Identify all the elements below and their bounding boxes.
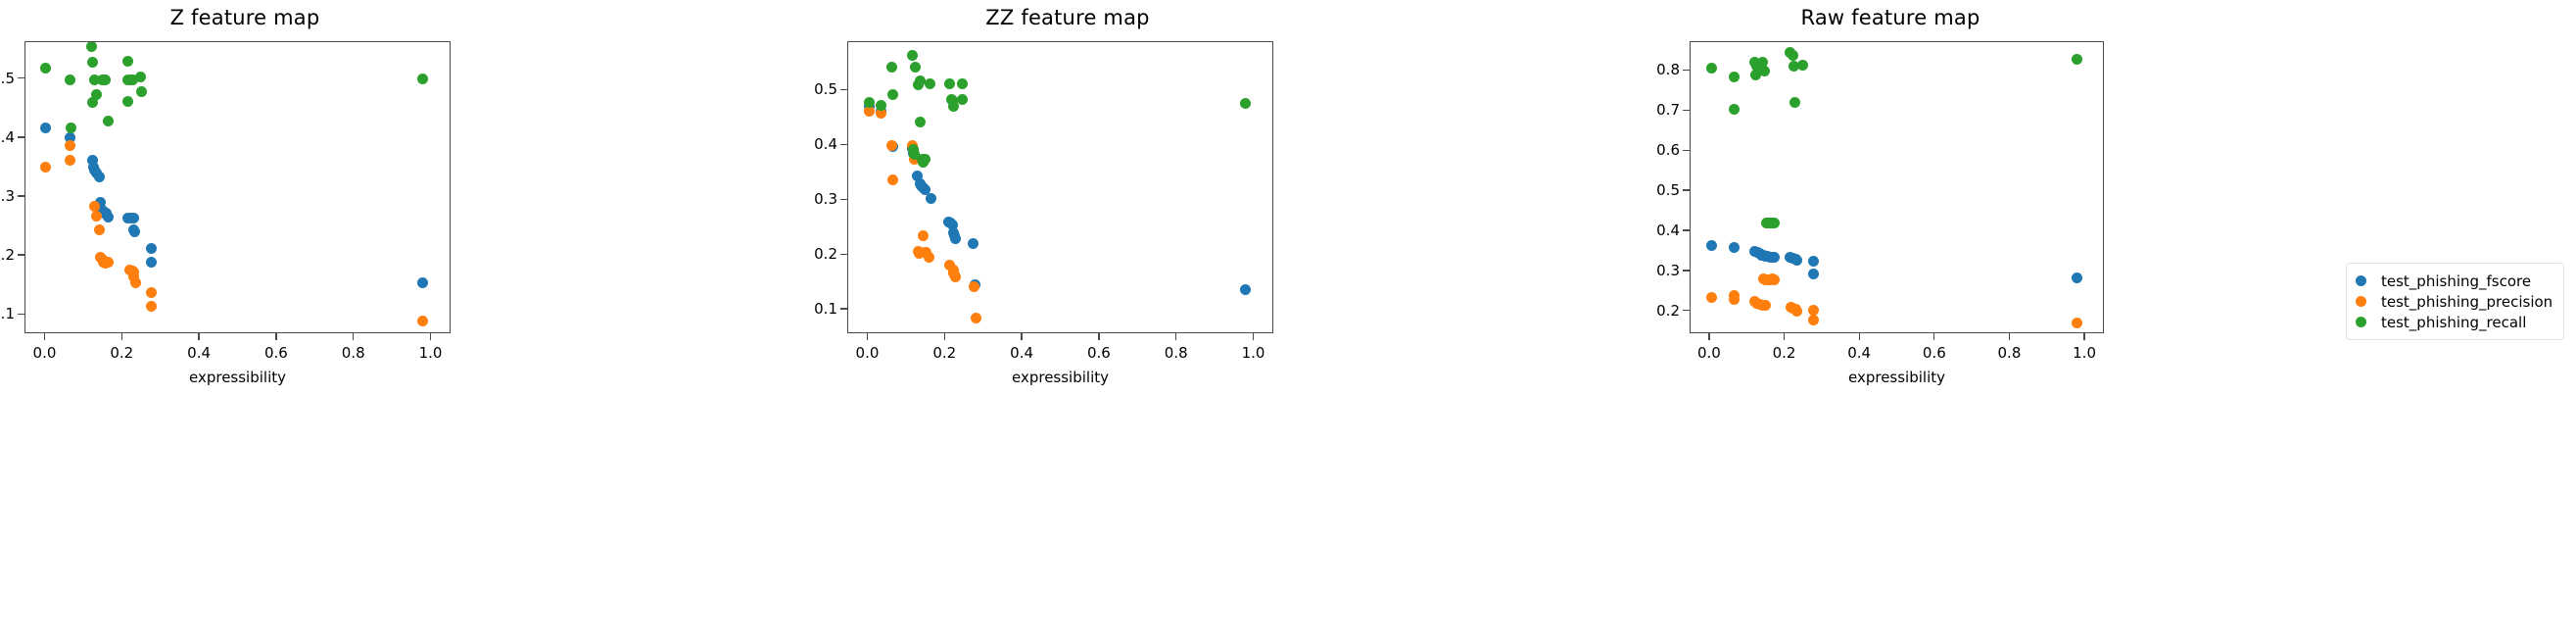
y-tick-mark xyxy=(1683,270,1690,271)
x-tick-mark xyxy=(121,333,122,340)
data-point xyxy=(40,63,51,74)
data-point xyxy=(944,78,955,89)
y-tick-label: 0.7 xyxy=(1639,101,1680,119)
x-tick-label: 0.8 xyxy=(1998,344,2022,362)
data-point xyxy=(969,281,979,292)
data-point xyxy=(135,72,146,82)
data-point xyxy=(65,140,75,151)
data-point xyxy=(876,100,886,111)
data-point xyxy=(100,74,111,85)
x-tick-mark xyxy=(1021,333,1022,340)
data-point xyxy=(950,272,961,282)
data-point xyxy=(915,117,926,127)
x-tick-label: 0.4 xyxy=(1010,344,1033,362)
y-tick-mark xyxy=(1683,189,1690,190)
data-point xyxy=(146,243,157,254)
y-tick-label: 0.4 xyxy=(1639,222,1680,239)
data-point xyxy=(40,123,51,133)
data-point xyxy=(40,162,51,173)
x-tick-label: 0.8 xyxy=(1165,344,1188,362)
y-tick-label: 0.4 xyxy=(796,135,837,153)
x-tick-mark xyxy=(944,333,945,340)
data-point xyxy=(957,78,968,89)
data-point xyxy=(94,172,105,182)
data-point xyxy=(2072,272,2082,283)
y-tick-label: 0.6 xyxy=(1639,141,1680,159)
legend-marker-icon xyxy=(2356,317,2366,327)
data-point xyxy=(129,226,140,237)
data-point xyxy=(1729,104,1740,115)
subplot-title: Z feature map xyxy=(0,6,490,29)
data-point xyxy=(66,123,76,133)
y-tick-mark xyxy=(1683,70,1690,71)
x-tick-mark xyxy=(867,333,868,340)
data-point xyxy=(925,78,935,89)
data-point xyxy=(887,89,898,100)
x-tick-label: 0.0 xyxy=(1697,344,1721,362)
data-point xyxy=(1706,63,1717,74)
data-point xyxy=(1769,274,1780,285)
x-axis-label: expressibility xyxy=(1848,369,1945,386)
data-point xyxy=(1759,66,1770,76)
x-tick-mark xyxy=(1098,333,1099,340)
plot-area xyxy=(847,41,1273,333)
x-tick-mark xyxy=(353,333,354,340)
data-point xyxy=(1797,60,1808,71)
data-point xyxy=(910,62,921,73)
data-point xyxy=(1729,72,1740,82)
plot-area xyxy=(24,41,451,333)
data-point xyxy=(417,74,428,84)
subplot-title: Raw feature map xyxy=(1646,6,2135,29)
subplot-2: ZZ feature map0.10.20.30.40.50.00.20.40.… xyxy=(823,0,1312,643)
x-tick-mark xyxy=(1933,333,1934,340)
data-point xyxy=(1788,50,1798,61)
x-axis-label: expressibility xyxy=(1012,369,1109,386)
data-point xyxy=(417,277,428,288)
x-tick-mark xyxy=(430,333,431,340)
legend: test_phishing_fscoretest_phishing_precis… xyxy=(2346,263,2564,340)
x-tick-label: 0.0 xyxy=(856,344,880,362)
x-tick-label: 0.4 xyxy=(187,344,211,362)
y-tick-label: 0.2 xyxy=(0,246,15,264)
legend-label: test_phishing_recall xyxy=(2381,314,2526,331)
data-point xyxy=(103,116,114,126)
legend-item[interactable]: test_phishing_fscore xyxy=(2356,271,2552,291)
data-point xyxy=(65,155,75,166)
data-point xyxy=(103,257,114,268)
y-tick-label: 0.1 xyxy=(0,305,15,322)
y-tick-label: 0.8 xyxy=(1639,61,1680,78)
data-point xyxy=(924,252,934,263)
y-tick-mark xyxy=(18,77,24,78)
y-tick-label: 0.3 xyxy=(796,190,837,208)
x-tick-label: 0.6 xyxy=(1923,344,1946,362)
legend-marker-icon xyxy=(2356,275,2366,286)
legend-item[interactable]: test_phishing_recall xyxy=(2356,312,2552,332)
y-tick-mark xyxy=(1683,150,1690,151)
data-point xyxy=(1240,284,1251,295)
y-tick-mark xyxy=(1683,110,1690,111)
y-tick-mark xyxy=(840,199,847,200)
x-tick-label: 0.0 xyxy=(33,344,57,362)
legend-marker-icon xyxy=(2356,296,2366,307)
x-tick-label: 0.8 xyxy=(342,344,365,362)
data-point xyxy=(957,94,968,105)
x-tick-label: 1.0 xyxy=(2073,344,2096,362)
data-point xyxy=(918,230,929,241)
data-point xyxy=(2072,54,2082,65)
y-tick-label: 0.5 xyxy=(796,80,837,98)
data-point xyxy=(920,154,930,165)
data-point xyxy=(130,277,141,288)
data-point xyxy=(146,287,157,298)
legend-item[interactable]: test_phishing_precision xyxy=(2356,291,2552,312)
subplot-1: Z feature map0.10.20.30.40.50.00.20.40.6… xyxy=(0,0,490,643)
legend-label: test_phishing_fscore xyxy=(2381,272,2531,290)
data-point xyxy=(1791,306,1802,317)
y-tick-mark xyxy=(1683,310,1690,311)
data-point xyxy=(1729,294,1740,305)
data-point xyxy=(87,57,98,68)
x-tick-mark xyxy=(1175,333,1176,340)
data-point xyxy=(1808,315,1819,325)
data-point xyxy=(971,313,981,323)
x-axis-label: expressibility xyxy=(189,369,286,386)
figure-canvas: Z feature map0.10.20.30.40.50.00.20.40.6… xyxy=(0,0,2576,643)
plot-area xyxy=(1690,41,2104,333)
y-tick-mark xyxy=(18,314,24,315)
x-tick-label: 0.2 xyxy=(110,344,133,362)
data-point xyxy=(886,62,897,73)
data-point xyxy=(1769,252,1780,263)
data-point xyxy=(1791,255,1802,266)
y-tick-mark xyxy=(840,254,847,255)
x-tick-mark xyxy=(1859,333,1860,340)
data-point xyxy=(122,56,133,67)
data-point xyxy=(1240,98,1251,109)
x-tick-label: 0.6 xyxy=(1087,344,1111,362)
data-point xyxy=(887,174,898,185)
y-tick-mark xyxy=(18,254,24,255)
y-tick-label: 0.2 xyxy=(1639,302,1680,320)
data-point xyxy=(146,257,157,268)
data-point xyxy=(2072,318,2082,328)
data-point xyxy=(417,316,428,326)
y-tick-label: 0.3 xyxy=(1639,262,1680,279)
data-point xyxy=(103,212,114,223)
data-point xyxy=(950,233,961,244)
y-tick-mark xyxy=(18,195,24,196)
data-point xyxy=(1769,218,1780,228)
x-tick-label: 0.4 xyxy=(1847,344,1871,362)
y-tick-label: 0.3 xyxy=(0,187,15,205)
y-tick-mark xyxy=(840,144,847,145)
data-point xyxy=(1706,292,1717,303)
y-tick-label: 0.1 xyxy=(796,300,837,318)
y-tick-mark xyxy=(840,308,847,309)
data-point xyxy=(1729,242,1740,253)
x-tick-mark xyxy=(275,333,276,340)
y-tick-label: 0.5 xyxy=(1639,181,1680,199)
y-tick-label: 0.2 xyxy=(796,245,837,263)
x-tick-mark xyxy=(44,333,45,340)
data-point xyxy=(122,96,133,107)
x-tick-mark xyxy=(198,333,199,340)
subplot-title: ZZ feature map xyxy=(823,6,1312,29)
x-tick-mark xyxy=(2009,333,2010,340)
data-point xyxy=(136,86,147,97)
y-tick-label: 0.5 xyxy=(0,70,15,87)
data-point xyxy=(94,224,105,235)
data-point xyxy=(128,213,139,223)
y-tick-mark xyxy=(840,89,847,90)
x-tick-mark xyxy=(1253,333,1254,340)
data-point xyxy=(1808,269,1819,279)
x-tick-label: 1.0 xyxy=(1242,344,1265,362)
data-point xyxy=(926,193,936,204)
x-tick-mark xyxy=(2083,333,2084,340)
data-point xyxy=(65,74,75,85)
subplot-3: Raw feature map0.20.30.40.50.60.70.80.00… xyxy=(1646,0,2135,643)
x-tick-mark xyxy=(1708,333,1709,340)
data-point xyxy=(1760,300,1771,311)
x-tick-label: 0.6 xyxy=(264,344,288,362)
data-point xyxy=(87,97,98,108)
data-point xyxy=(907,50,918,61)
x-tick-label: 0.2 xyxy=(932,344,956,362)
data-point xyxy=(146,301,157,312)
data-point xyxy=(1789,97,1800,108)
x-tick-label: 1.0 xyxy=(419,344,443,362)
x-tick-mark xyxy=(1784,333,1785,340)
data-point xyxy=(91,211,102,222)
legend-label: test_phishing_precision xyxy=(2381,293,2552,311)
data-point xyxy=(1706,240,1717,251)
y-tick-mark xyxy=(18,136,24,137)
data-point xyxy=(1808,256,1819,267)
y-tick-mark xyxy=(1683,229,1690,230)
data-point xyxy=(968,238,978,249)
x-tick-label: 0.2 xyxy=(1773,344,1796,362)
y-tick-label: 0.4 xyxy=(0,128,15,146)
data-point xyxy=(86,41,97,52)
